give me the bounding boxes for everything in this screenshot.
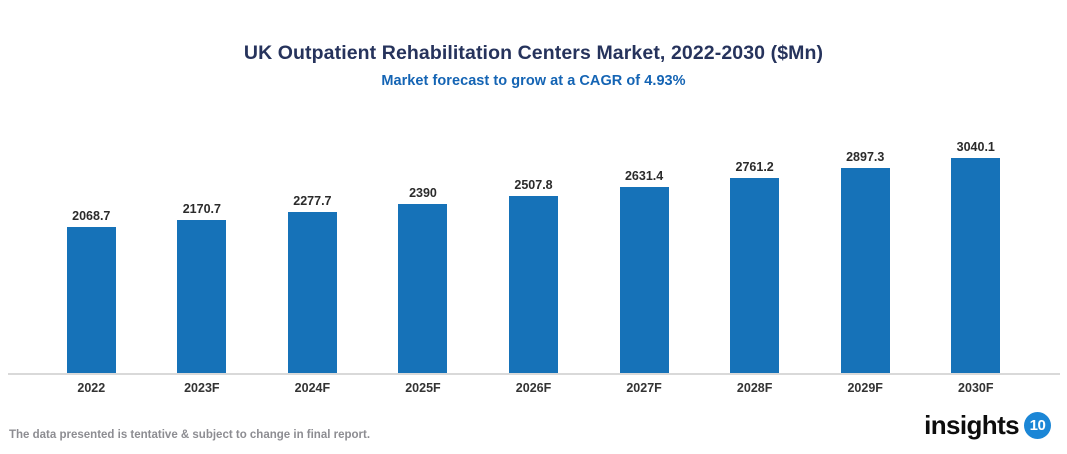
x-axis-tick-label: 2025F xyxy=(368,379,479,399)
bar-item: 2390 xyxy=(368,110,479,374)
x-axis-tick-label: 2028F xyxy=(699,379,810,399)
x-axis-tick-label: 2026F xyxy=(478,379,589,399)
x-axis-tick-labels: 20222023F2024F2025F2026F2027F2028F2029F2… xyxy=(8,379,1059,399)
bar-value-label: 2897.3 xyxy=(846,150,884,164)
bar-item: 2631.4 xyxy=(589,110,700,374)
bar-rect xyxy=(177,220,226,374)
bar-rect xyxy=(730,178,779,374)
bar-value-label: 2631.4 xyxy=(625,169,663,183)
bar-series: 2068.72170.72277.723902507.82631.42761.2… xyxy=(8,110,1059,374)
bar-value-label: 2390 xyxy=(409,186,437,200)
x-axis-tick-label: 2030F xyxy=(921,379,1032,399)
bar-item: 2068.7 xyxy=(36,110,147,374)
bar-rect xyxy=(620,187,669,374)
x-axis-tick-label: 2027F xyxy=(589,379,700,399)
bar-item: 2761.2 xyxy=(699,110,810,374)
bar-rect xyxy=(509,196,558,374)
chart-subtitle: Market forecast to grow at a CAGR of 4.9… xyxy=(0,72,1067,90)
chart-title: UK Outpatient Rehabilitation Centers Mar… xyxy=(0,41,1067,65)
bar-rect xyxy=(288,212,337,374)
x-axis-tick-label: 2029F xyxy=(810,379,921,399)
bar-item: 2897.3 xyxy=(810,110,921,374)
plot-area: 2068.72170.72277.723902507.82631.42761.2… xyxy=(8,110,1059,374)
chart-container: UK Outpatient Rehabilitation Centers Mar… xyxy=(0,0,1067,454)
bar-value-label: 3040.1 xyxy=(957,140,995,154)
bar-rect xyxy=(398,204,447,374)
x-axis-tick-label: 2024F xyxy=(257,379,368,399)
chart-header: UK Outpatient Rehabilitation Centers Mar… xyxy=(0,41,1067,90)
bar-rect xyxy=(951,158,1000,374)
bar-value-label: 2277.7 xyxy=(293,194,331,208)
bar-value-label: 2170.7 xyxy=(183,202,221,216)
bar-item: 3040.1 xyxy=(921,110,1032,374)
bar-value-label: 2761.2 xyxy=(736,160,774,174)
x-axis-tick-label: 2022 xyxy=(36,379,147,399)
bar-rect xyxy=(67,227,116,374)
logo-wordmark: insights xyxy=(924,411,1019,439)
bar-rect xyxy=(841,168,890,374)
bar-item: 2277.7 xyxy=(257,110,368,374)
logo-badge-icon: 10 xyxy=(1024,412,1051,439)
bar-item: 2170.7 xyxy=(147,110,258,374)
x-axis-line xyxy=(8,373,1060,375)
insights10-logo: insights 10 xyxy=(924,408,1051,442)
bar-value-label: 2507.8 xyxy=(514,178,552,192)
bar-item: 2507.8 xyxy=(478,110,589,374)
x-axis-tick-label: 2023F xyxy=(147,379,258,399)
bar-value-label: 2068.7 xyxy=(72,209,110,223)
disclaimer-text: The data presented is tentative & subjec… xyxy=(9,428,370,443)
